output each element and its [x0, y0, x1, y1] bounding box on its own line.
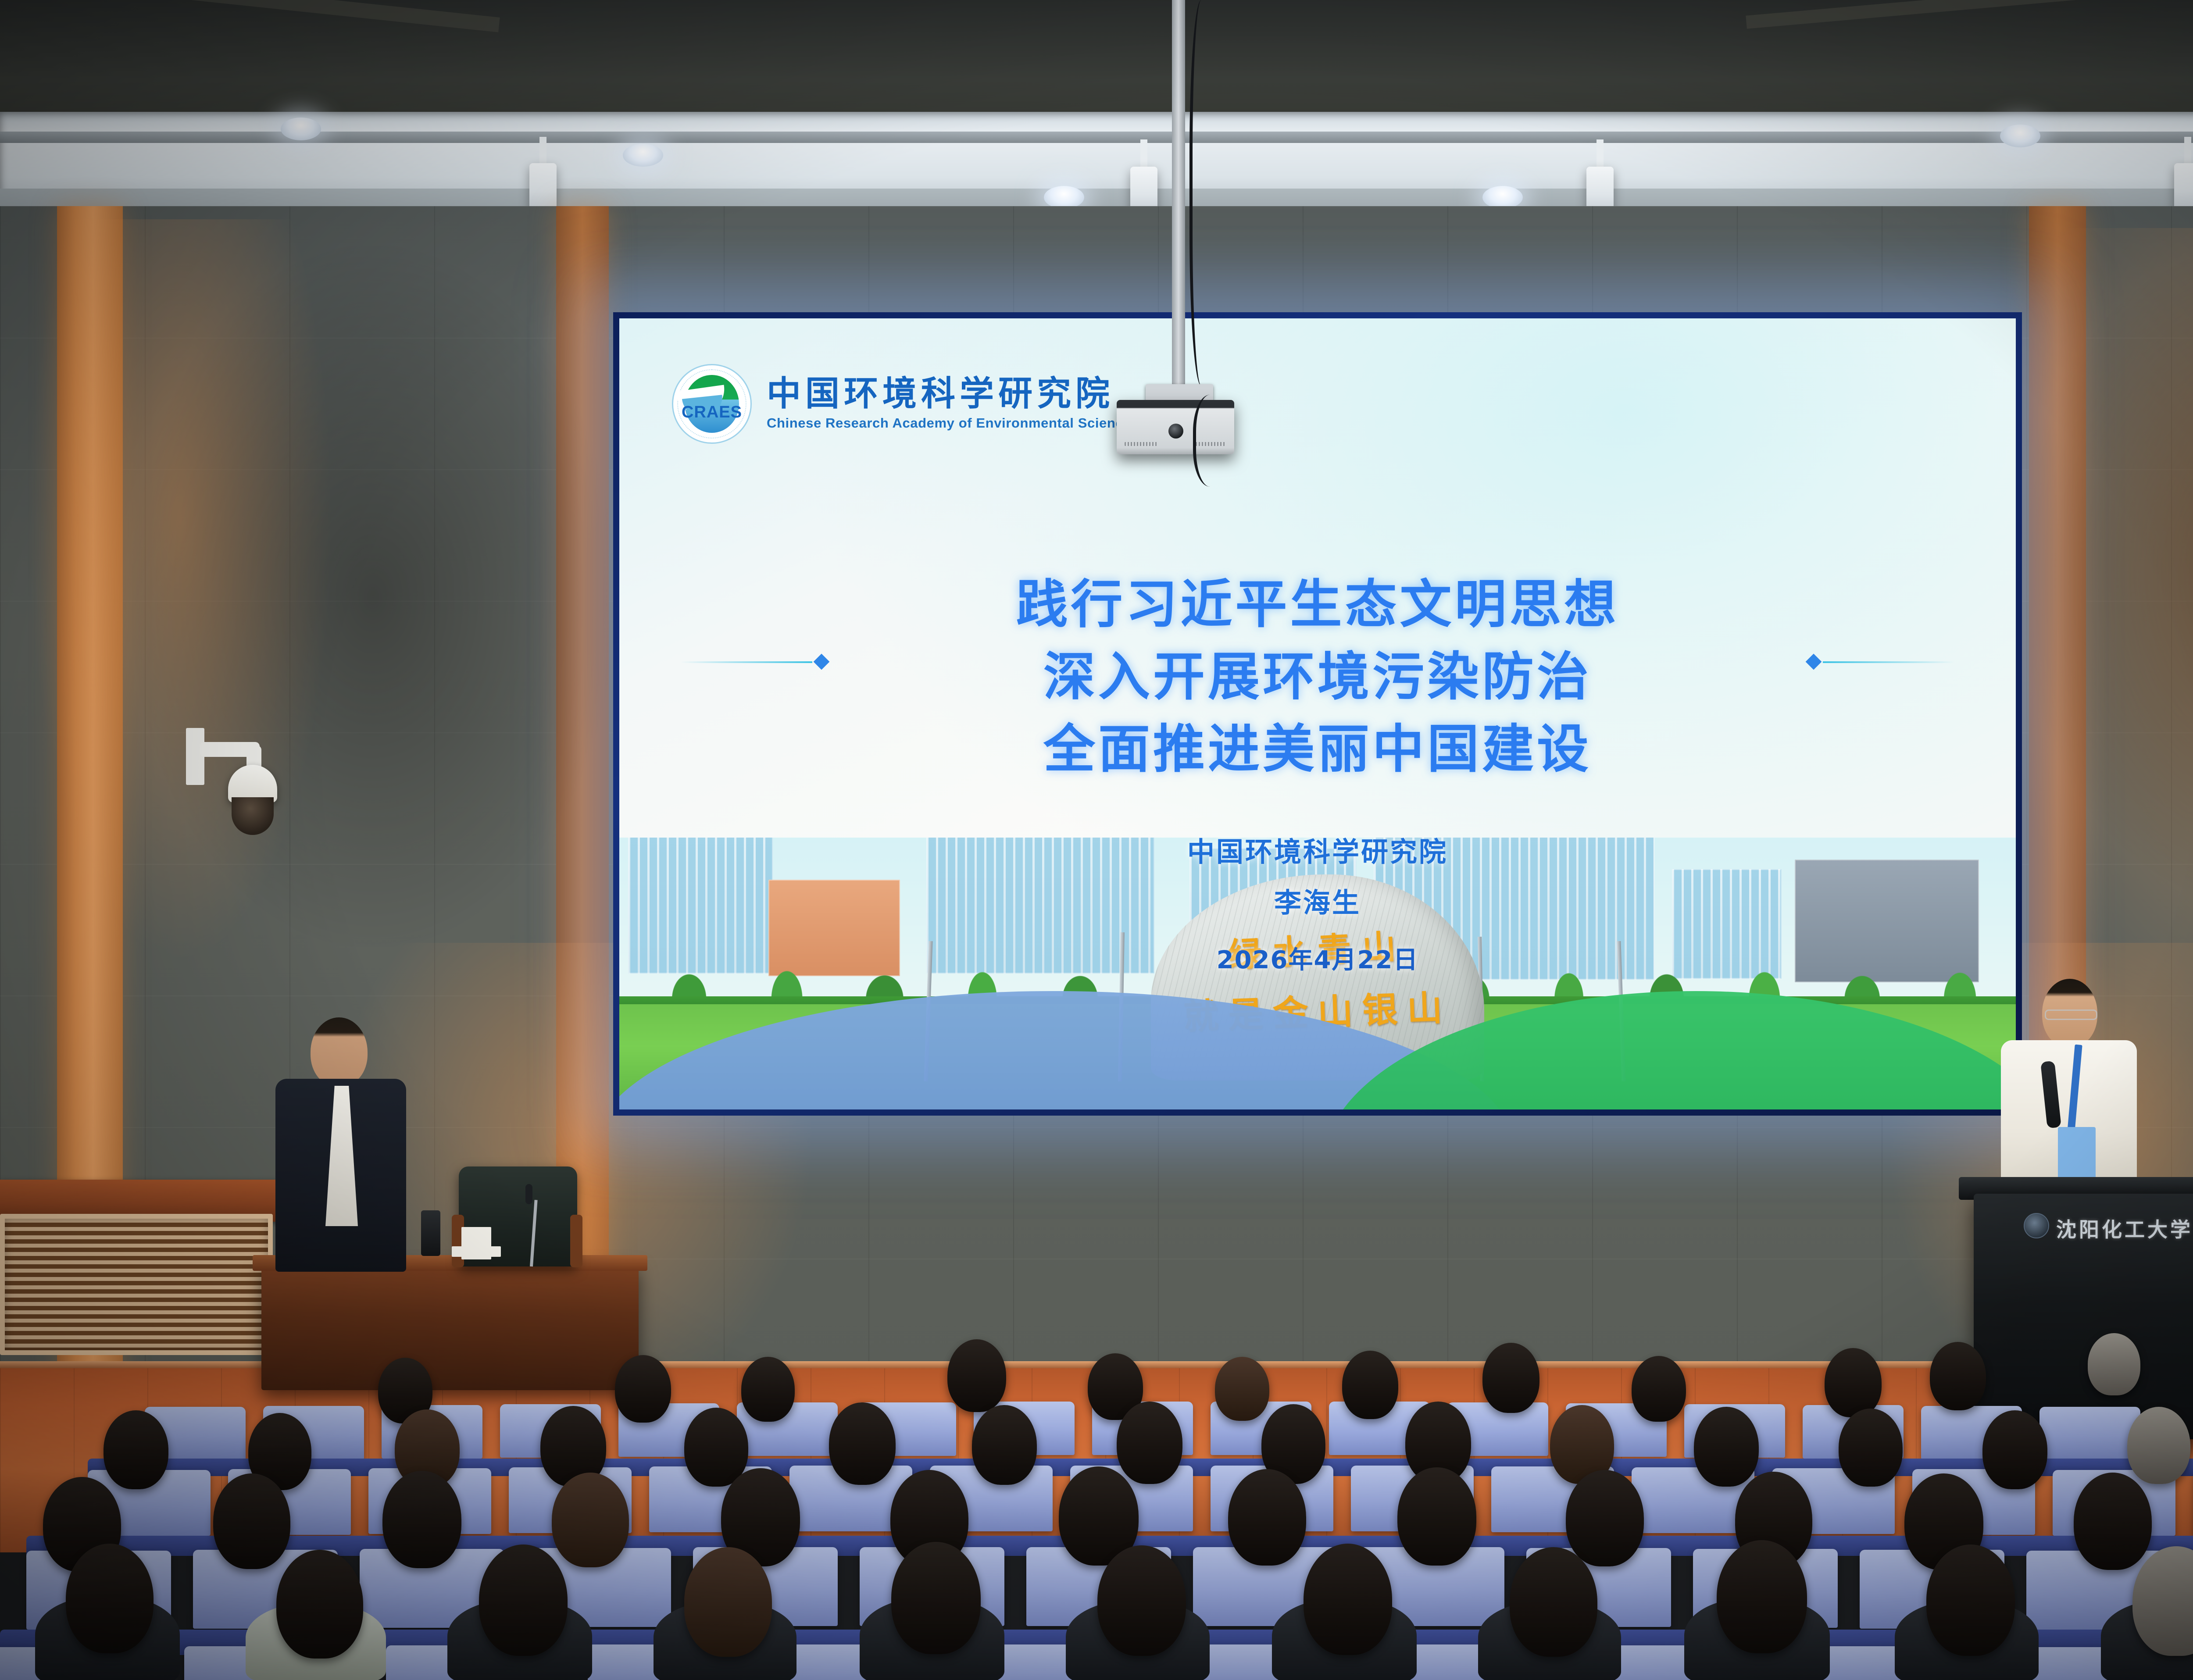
- audience-head: [1397, 1467, 1476, 1566]
- audience-head: [1825, 1348, 1882, 1417]
- audience-head: [1510, 1547, 1597, 1657]
- presenter-glasses-icon: [2045, 1009, 2097, 1020]
- logo-name-cn: 中国环境科学研究院: [767, 377, 1139, 411]
- slide-date: 2026年4月22日: [619, 940, 2016, 976]
- slide-presenter-name: 李海生: [619, 881, 2016, 920]
- ceiling-downlight: [2000, 125, 2040, 147]
- audience-head: [1632, 1356, 1686, 1422]
- slide-logo: CRAES 中国环境科学研究院 Chinese Research Academy…: [672, 364, 1139, 444]
- audience-head: [947, 1339, 1006, 1412]
- pendant-spotlight-stem: [1140, 139, 1147, 169]
- chair-armrest: [570, 1215, 582, 1267]
- audience-head: [1304, 1544, 1392, 1655]
- audience-head: [829, 1402, 896, 1485]
- audience-head: [684, 1408, 748, 1487]
- projector-lens-icon: [1168, 424, 1183, 439]
- craes-logo-icon: CRAES: [672, 364, 752, 444]
- water-bottle: [421, 1210, 440, 1256]
- audience-head: [382, 1471, 461, 1568]
- wall-air-grille: [0, 1214, 273, 1355]
- audience-head: [104, 1410, 168, 1489]
- presenter: [1997, 979, 2141, 1207]
- ceiling-downlight: [281, 118, 321, 140]
- audience-head: [1982, 1410, 2047, 1489]
- seat[interactable]: [2039, 1407, 2140, 1460]
- audience-head: [1930, 1342, 1986, 1410]
- audience-head: [2088, 1333, 2140, 1395]
- audience-head: [1117, 1402, 1182, 1484]
- audience-head: [891, 1542, 981, 1654]
- audience-head: [479, 1544, 568, 1656]
- audience-head: [1694, 1407, 1759, 1487]
- audience-head: [2074, 1473, 2152, 1570]
- audience-head: [1097, 1545, 1186, 1656]
- slide-organization: 中国环境科学研究院: [619, 830, 2016, 869]
- audience-head: [972, 1405, 1037, 1485]
- podium-institution-label: 沈阳化工大学: [2056, 1214, 2193, 1243]
- pendant-spotlight-stem: [539, 137, 546, 165]
- presentation-slide: CRAES 中国环境科学研究院 Chinese Research Academy…: [619, 318, 2016, 1109]
- audience-head: [1926, 1544, 2015, 1656]
- logo-craes-text: CRAES: [673, 403, 750, 422]
- head-table: [261, 1263, 639, 1390]
- presenter-id-badge: [2058, 1127, 2096, 1179]
- desk-microphone: [525, 1184, 532, 1204]
- projector-vent: [1125, 442, 1157, 446]
- ceiling-track-rail: [0, 132, 2193, 143]
- audience-head: [1717, 1540, 1807, 1653]
- slide-title-line-2: 深入开展环境污染防治: [619, 641, 2016, 713]
- audience-head: [741, 1357, 795, 1422]
- moderator: [268, 1017, 417, 1272]
- audience-head: [615, 1355, 671, 1423]
- pendant-spotlight: [2174, 163, 2193, 210]
- audience-head: [552, 1473, 629, 1567]
- title-divider-left: [681, 661, 812, 663]
- slide-subtitle-block: 中国环境科学研究院 李海生 2026年4月22日: [619, 830, 2016, 976]
- ceiling-downlight: [1044, 186, 1084, 209]
- pendant-spotlight: [529, 163, 557, 210]
- auditorium-scene: CRAES 中国环境科学研究院 Chinese Research Academy…: [0, 0, 2193, 1680]
- ceiling-downlight: [623, 144, 663, 167]
- audience-head: [1566, 1470, 1644, 1566]
- moderator-head: [311, 1017, 368, 1087]
- projector-mount-pole: [1172, 0, 1185, 395]
- audience-head: [1482, 1343, 1539, 1413]
- slide-title-line-1: 践行习近平生态文明思想: [619, 568, 2016, 641]
- camera-wall-bracket: [186, 728, 204, 785]
- audience-head: [1342, 1351, 1398, 1419]
- slide-title-line-3: 全面推进美丽中国建设: [619, 713, 2016, 785]
- audience-head: [684, 1547, 772, 1657]
- audience-head: [1839, 1409, 1903, 1487]
- audience-head: [213, 1473, 290, 1569]
- title-divider-right: [1823, 661, 1954, 663]
- projection-screen: CRAES 中国环境科学研究院 Chinese Research Academy…: [613, 312, 2022, 1116]
- audience-head: [66, 1544, 154, 1653]
- projector-cable: [1189, 0, 1219, 386]
- projector-cable-loop: [1193, 395, 1236, 487]
- pendant-spotlight-stem: [2184, 137, 2191, 165]
- ceiling-downlight: [1482, 186, 1523, 209]
- university-emblem-icon: [2024, 1213, 2049, 1238]
- name-card: [452, 1246, 501, 1257]
- slide-title-block: 践行习近平生态文明思想 深入开展环境污染防治 全面推进美丽中国建设: [619, 568, 2016, 786]
- audience-head: [2127, 1407, 2190, 1484]
- logo-name-en: Chinese Research Academy of Environmenta…: [767, 415, 1139, 431]
- audience-head: [1228, 1469, 1306, 1566]
- audience-head: [1215, 1357, 1269, 1421]
- pendant-spotlight-stem: [1597, 139, 1604, 169]
- audience-head: [276, 1550, 363, 1659]
